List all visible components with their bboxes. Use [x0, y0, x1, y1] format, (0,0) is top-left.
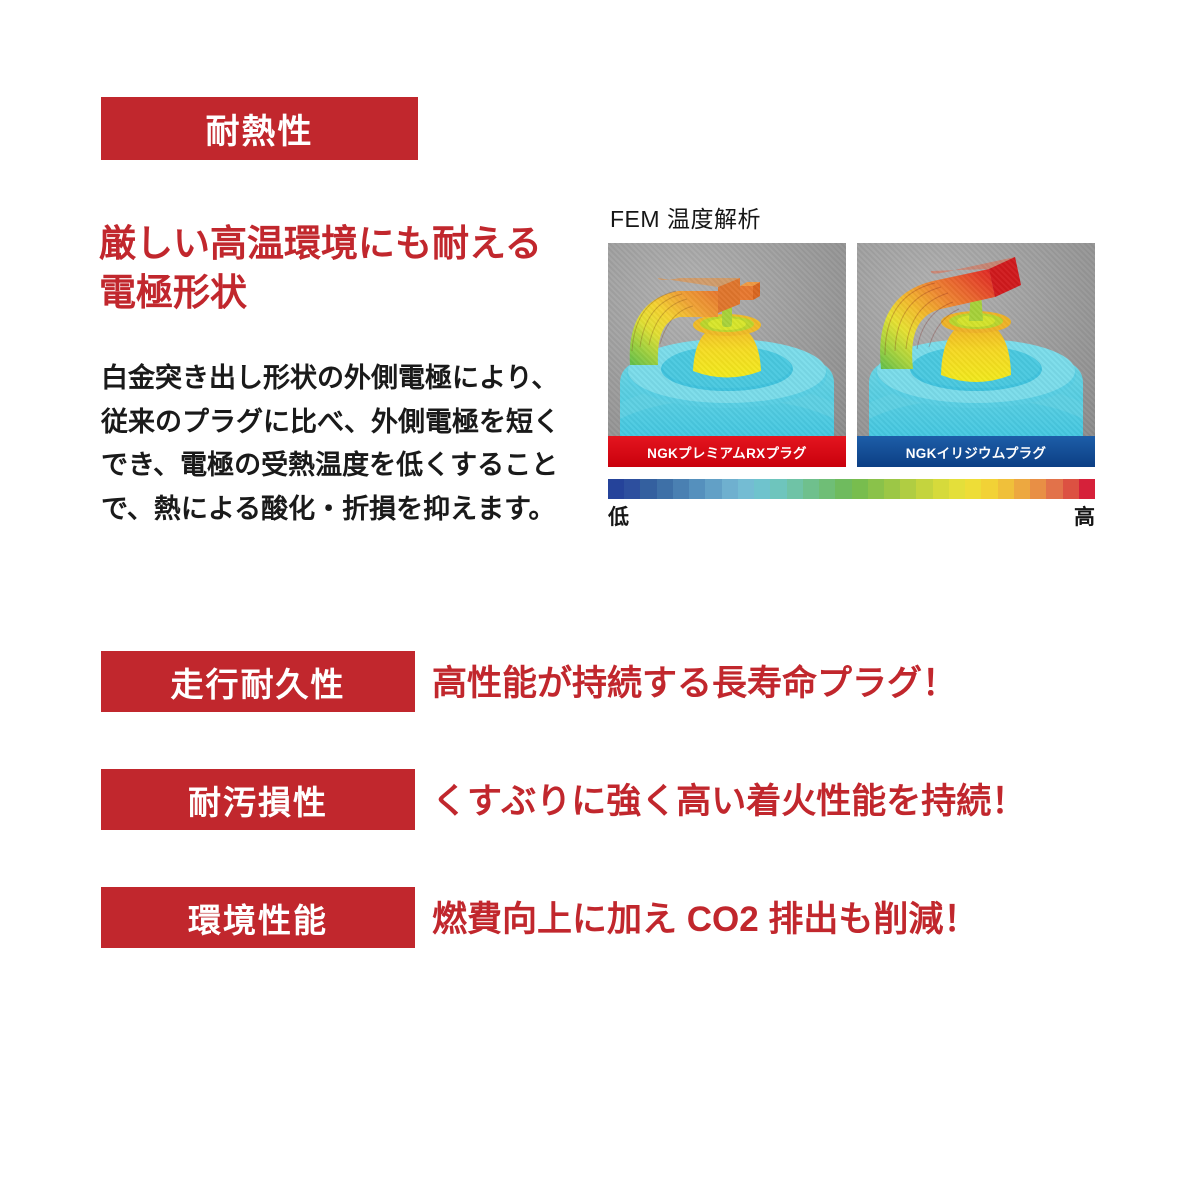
fem-thermal-image-iridium	[857, 243, 1095, 467]
fem-caption-premium-rx-label: NGKプレミアムRXプラグ	[647, 442, 807, 462]
temperature-scale-segment-27	[1046, 479, 1062, 499]
temperature-scale-segment-3	[657, 479, 673, 499]
temperature-scale-segment-28	[1063, 479, 1079, 499]
temperature-scale-segment-19	[916, 479, 932, 499]
fem-panel-premium-rx: NGKプレミアムRXプラグ	[608, 243, 846, 467]
feature-text-fouling-resistance: くすぶりに強く高い着火性能を持続！	[432, 767, 1026, 830]
temperature-scale-segment-25	[1014, 479, 1030, 499]
heat-body-line-3: でき、電極の受熱温度を低くすること	[101, 444, 601, 488]
temperature-scale-segment-8	[738, 479, 754, 499]
temperature-scale-segment-10	[770, 479, 786, 499]
temperature-scale-segment-5	[689, 479, 705, 499]
temperature-scale-segment-23	[981, 479, 997, 499]
temperature-scale: 低 高	[608, 479, 1095, 531]
temperature-scale-segment-13	[819, 479, 835, 499]
fem-panel-group: NGKプレミアムRXプラグ	[608, 243, 1095, 467]
temperature-scale-segment-26	[1030, 479, 1046, 499]
temperature-scale-segment-16	[868, 479, 884, 499]
feature-badge-environmental: 環境性能	[101, 887, 415, 948]
feature-row-environmental: 環境性能 燃費向上に加え CO2 排出も削減！	[0, 887, 1200, 1005]
temperature-scale-segment-15	[852, 479, 868, 499]
fem-analysis-title: FEM 温度解析	[610, 200, 1095, 234]
heat-resistance-body: 白金突き出し形状の外側電極により、 従来のプラグに比べ、外側電極を短く でき、電…	[101, 357, 601, 532]
temperature-scale-segment-18	[900, 479, 916, 499]
temperature-scale-labels: 低 高	[608, 501, 1095, 531]
feature-text-durability: 高性能が持続する長寿命プラグ！	[432, 649, 957, 712]
temperature-scale-segment-6	[705, 479, 721, 499]
temperature-scale-segment-11	[787, 479, 803, 499]
temperature-scale-segment-21	[949, 479, 965, 499]
fem-caption-iridium-label: NGKイリジウムプラグ	[906, 442, 1047, 462]
feature-row-durability: 走行耐久性 高性能が持続する長寿命プラグ！	[0, 651, 1200, 769]
heat-resistance-heading: 厳しい高温環境にも耐える 電極形状	[99, 219, 619, 317]
temperature-scale-segment-24	[998, 479, 1014, 499]
temperature-scale-high-label: 高	[1074, 501, 1095, 531]
temperature-scale-low-label: 低	[608, 501, 629, 531]
temperature-scale-segment-4	[673, 479, 689, 499]
fem-analysis-figure: FEM 温度解析	[608, 200, 1095, 467]
temperature-scale-segment-9	[754, 479, 770, 499]
temperature-scale-segment-2	[640, 479, 656, 499]
temperature-scale-segment-0	[608, 479, 624, 499]
temperature-scale-segment-17	[884, 479, 900, 499]
temperature-scale-segment-20	[933, 479, 949, 499]
feature-badge-environmental-label: 環境性能	[188, 894, 328, 942]
feature-badge-fouling-resistance-label: 耐汚損性	[188, 776, 328, 824]
temperature-scale-segment-29	[1079, 479, 1095, 499]
heat-resistance-badge-label: 耐熱性	[206, 104, 314, 153]
heat-body-line-4: で、熱による酸化・折損を抑えます。	[101, 488, 601, 532]
feature-badge-durability: 走行耐久性	[101, 651, 415, 712]
temperature-scale-segment-1	[624, 479, 640, 499]
fem-thermal-image-premium-rx	[608, 243, 846, 467]
heat-heading-line-1: 厳しい高温環境にも耐える	[99, 219, 619, 268]
heat-body-line-2: 従来のプラグに比べ、外側電極を短く	[101, 401, 601, 445]
heat-body-line-1: 白金突き出し形状の外側電極により、	[101, 357, 601, 401]
feature-badge-fouling-resistance: 耐汚損性	[101, 769, 415, 830]
temperature-scale-segment-7	[722, 479, 738, 499]
heat-resistance-section: 耐熱性 厳しい高温環境にも耐える 電極形状 白金突き出し形状の外側電極により、 …	[0, 0, 1200, 560]
heat-heading-line-2: 電極形状	[99, 268, 619, 317]
temperature-scale-segment-12	[803, 479, 819, 499]
fem-caption-iridium: NGKイリジウムプラグ	[857, 436, 1095, 467]
feature-row-fouling-resistance: 耐汚損性 くすぶりに強く高い着火性能を持続！	[0, 769, 1200, 887]
temperature-scale-segment-14	[835, 479, 851, 499]
temperature-scale-segment-22	[965, 479, 981, 499]
fem-caption-premium-rx: NGKプレミアムRXプラグ	[608, 436, 846, 467]
feature-badge-durability-label: 走行耐久性	[171, 658, 346, 706]
feature-list: 走行耐久性 高性能が持続する長寿命プラグ！ 耐汚損性 くすぶりに強く高い着火性能…	[0, 651, 1200, 1005]
fem-panel-iridium: NGKイリジウムプラグ	[857, 243, 1095, 467]
temperature-scale-bar	[608, 479, 1095, 499]
feature-text-environmental: 燃費向上に加え CO2 排出も削減！	[432, 885, 978, 948]
heat-resistance-badge: 耐熱性	[101, 97, 418, 160]
